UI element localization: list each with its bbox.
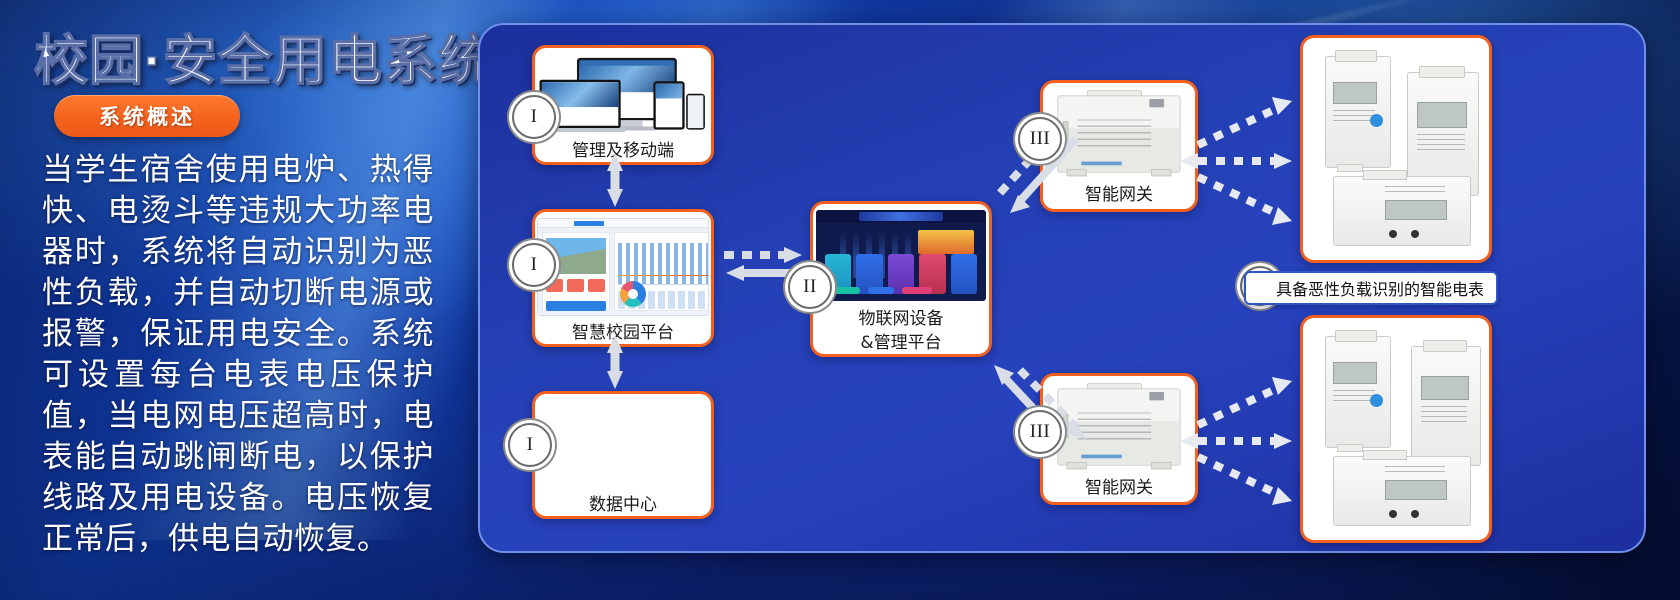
badge-roman-management: I: [512, 95, 556, 139]
badge-roman-gateway-top: III: [1018, 117, 1062, 161]
section-badge-label: 系统概述: [99, 101, 195, 131]
node-iot-caption-line1: 物联网设备: [855, 306, 948, 330]
meter-din-rail-icon: [1333, 176, 1471, 246]
node-gateway-bottom-caption: 智能网关: [1081, 475, 1157, 499]
badge-roman-campus: I: [512, 243, 556, 287]
meter-capability-label[interactable]: 具备恶性负载识别的智能电表: [1244, 271, 1498, 305]
architecture-diagram: 管理及移动端 I 智慧校园平台 I 数据中心 I: [478, 23, 1646, 553]
arrow-gateway-top-to-meters: [1198, 97, 1292, 225]
panel-meters-top[interactable]: [1300, 35, 1492, 263]
left-info-panel: 校园·安全用电系统 系统概述 当学生宿舍使用电炉、热得快、电烫斗等违规大功率电器…: [0, 0, 470, 600]
badge-roman-iot: II: [788, 265, 832, 309]
overview-paragraph: 当学生宿舍使用电炉、热得快、电烫斗等违规大功率电器时，系统将自动识别为恶性负载，…: [42, 150, 434, 560]
node-data-center[interactable]: 数据中心: [532, 391, 714, 519]
badge-roman-datacenter: I: [508, 423, 552, 467]
gateway-device-icon: [1050, 90, 1188, 178]
node-datacenter-caption: 数据中心: [585, 492, 661, 516]
meter-din-rail-icon-2: [1333, 456, 1471, 526]
phone-icon: [686, 94, 705, 130]
panel-meters-bottom[interactable]: [1300, 315, 1492, 543]
section-badge: 系统概述: [54, 95, 240, 137]
server-rack-icon: [575, 398, 671, 483]
page-title: 校园·安全用电系统: [34, 16, 493, 95]
badge-roman-gateway-bottom: III: [1018, 410, 1062, 454]
iot-platform-screenshot: [816, 210, 986, 301]
node-gateway-top-caption: 智能网关: [1081, 182, 1157, 206]
node-gateway-bottom[interactable]: 智能网关: [1040, 373, 1198, 505]
tablet-icon: [653, 81, 684, 129]
arrow-gateway-bottom-to-meters: [1198, 377, 1292, 505]
meter-capability-text: 具备恶性负载识别的智能电表: [1276, 276, 1484, 300]
gateway-device-icon-2: [1050, 383, 1188, 471]
node-management[interactable]: 管理及移动端: [532, 45, 714, 165]
node-campus-caption: 智慧校园平台: [568, 320, 678, 344]
node-campus-platform[interactable]: 智慧校园平台: [532, 209, 714, 347]
node-management-caption: 管理及移动端: [568, 138, 678, 162]
node-iot-caption-line2: &管理平台: [856, 330, 945, 354]
node-iot-platform[interactable]: 物联网设备 &管理平台: [810, 201, 992, 357]
meter-three-phase-icon-2: [1411, 346, 1481, 466]
meter-single-phase-icon: [1325, 56, 1391, 168]
meter-single-phase-icon-2: [1325, 336, 1391, 448]
campus-platform-screenshot: [537, 218, 709, 316]
node-gateway-top[interactable]: 智能网关: [1040, 80, 1198, 212]
management-devices-illustration: [540, 58, 707, 128]
